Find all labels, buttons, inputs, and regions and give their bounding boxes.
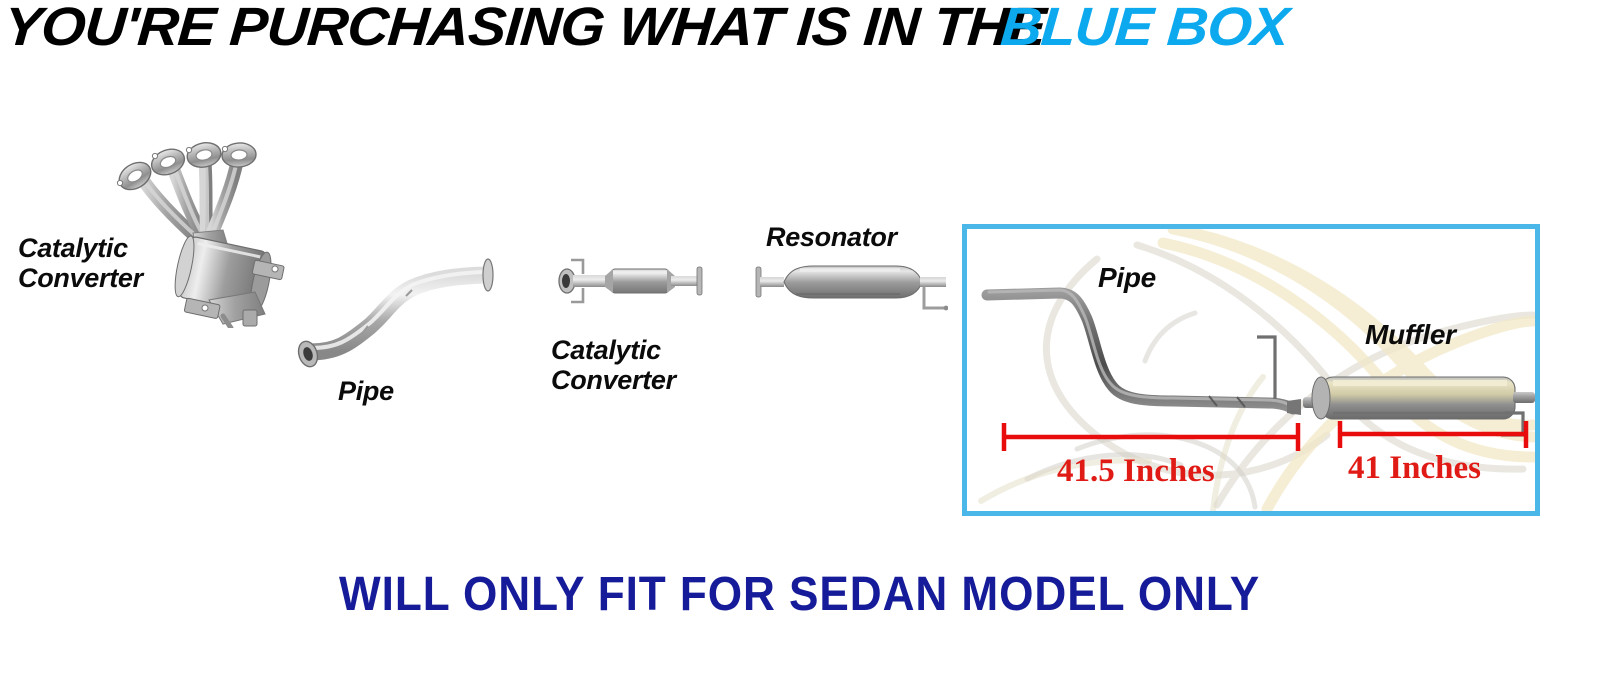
measurement-muffler-length: 41 Inches: [1348, 452, 1481, 485]
inline-catalytic-converter-icon: [553, 250, 713, 312]
exhaust-resonator-icon: [748, 258, 948, 326]
header-title-black: YOU'RE PURCHASING WHAT IS IN THE: [0, 0, 1047, 54]
footer-fitment-note: WILL ONLY FIT FOR SEDAN MODEL ONLY: [0, 569, 1600, 621]
header-title-blue-box: BLUE BOX: [984, 0, 1290, 54]
footer-fitment-text: WILL ONLY FIT FOR SEDAN MODEL ONLY: [339, 569, 1260, 621]
label-muffler-in-blue-box: Muffler: [1365, 320, 1456, 350]
header-banner: YOU'RE PURCHASING WHAT IS IN THE BLUE BO…: [0, 0, 1600, 56]
front-exhaust-pipe-icon: [288, 248, 513, 368]
label-pipe-1: Pipe: [338, 376, 394, 406]
label-pipe-in-blue-box: Pipe: [1098, 263, 1156, 293]
label-resonator: Resonator: [766, 222, 897, 252]
measurement-pipe-length: 41.5 Inches: [1057, 455, 1215, 488]
label-catalytic-converter-1: Catalytic Converter: [18, 233, 143, 293]
label-catalytic-converter-2: Catalytic Converter: [551, 335, 676, 395]
